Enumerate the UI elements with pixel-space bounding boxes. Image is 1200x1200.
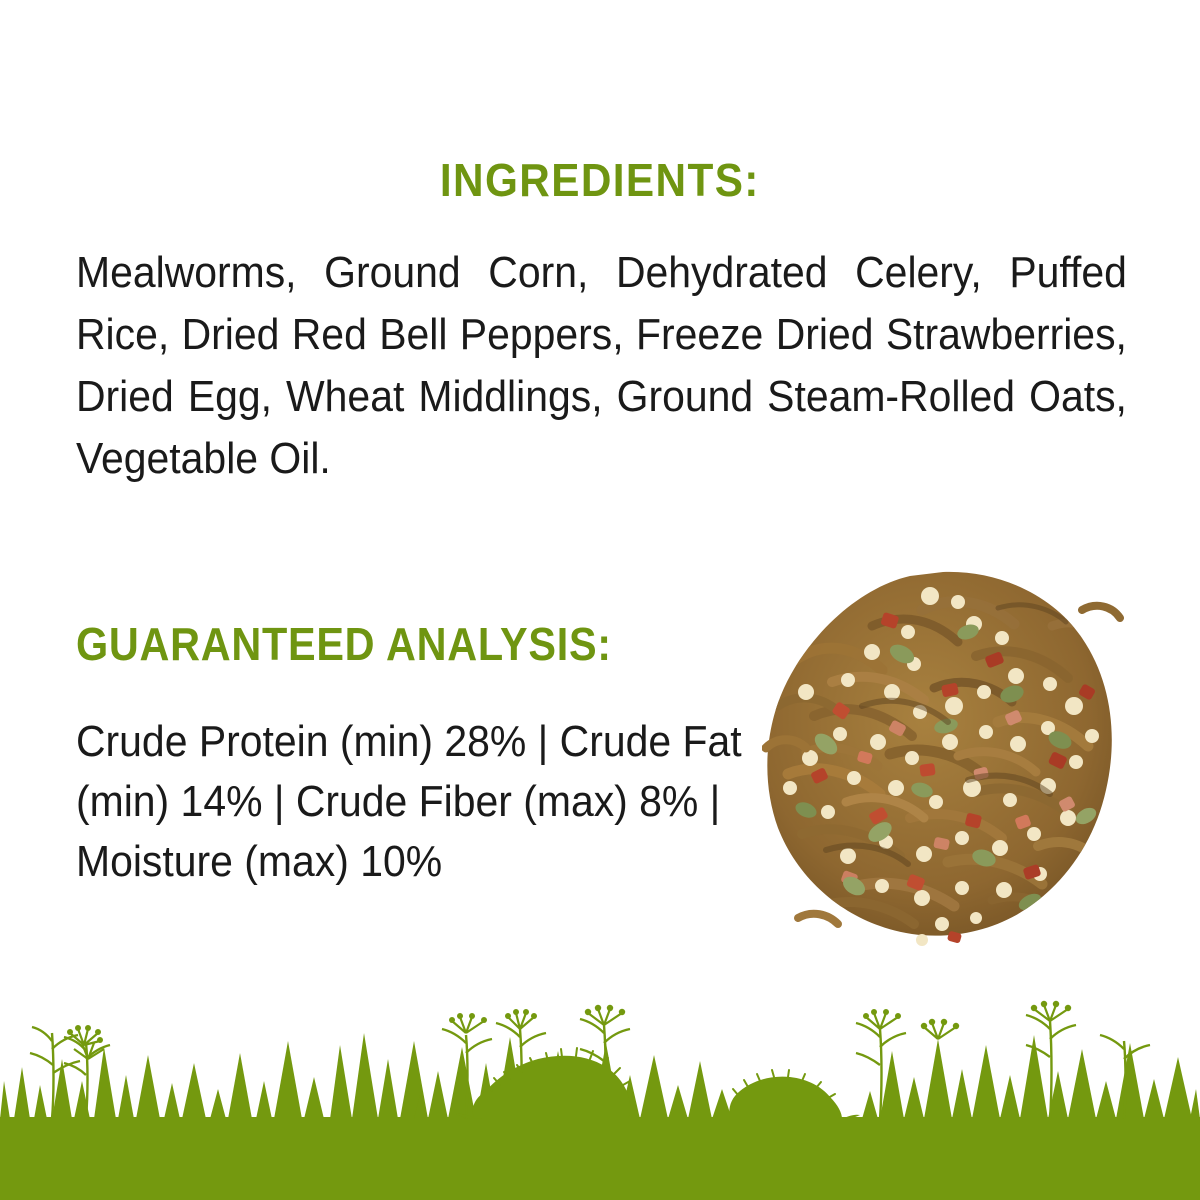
ingredients-heading: INGREDIENTS: [0,152,1200,208]
food-mix-pile-svg [762,566,1124,948]
grass-footer-band [0,985,1200,1200]
food-mix-pile-image [762,566,1124,948]
ingredients-text: Mealworms, Ground Corn, Dehydrated Celer… [76,242,1127,490]
guaranteed-analysis-text: Crude Protein (min) 28% | Crude Fat (min… [76,712,796,892]
umbel-flowers-left [67,1025,104,1059]
pile-contents [762,566,1124,948]
ground-band [0,1117,1200,1200]
label-panel: INGREDIENTS: Mealworms, Ground Corn, Deh… [0,0,1200,1200]
grass-footer-svg [0,985,1200,1200]
grass-blades-left [0,1041,324,1119]
guaranteed-analysis-heading: GUARANTEED ANALYSIS: [76,616,671,672]
ingredients-heading-label: INGREDIENTS: [440,152,760,208]
guaranteed-analysis-heading-label: GUARANTEED ANALYSIS: [76,616,612,672]
